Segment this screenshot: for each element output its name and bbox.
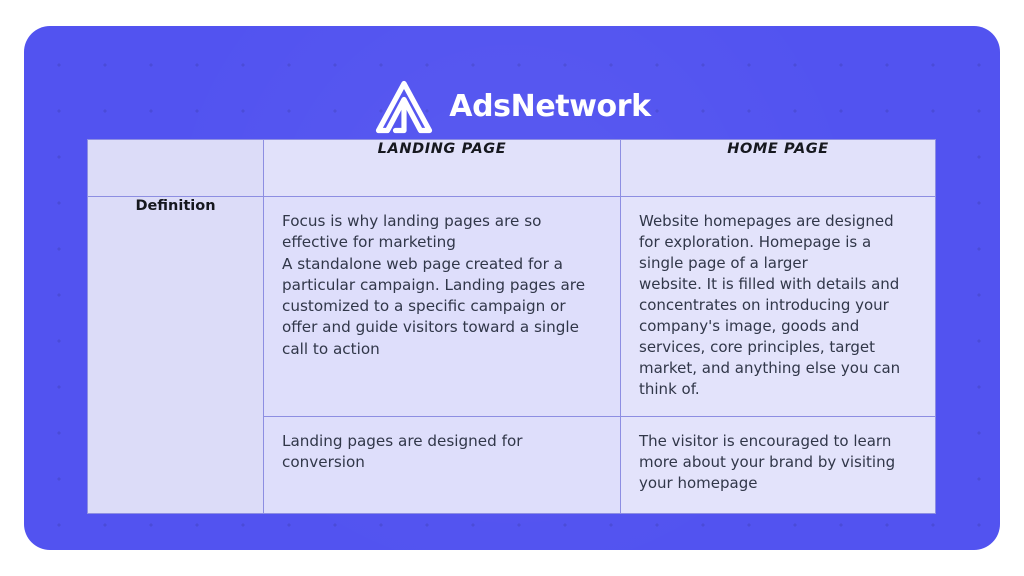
content-card: AdsNetwork LANDING PAGE HOME PAGE [24,26,1000,550]
adsnetwork-a-mark-icon [373,78,435,136]
comparison-table: LANDING PAGE HOME PAGE Definition Focus [87,139,936,514]
row-label-definition-text: Definition [135,198,215,214]
table-row: Definition Focus is why landing pages ar… [88,197,936,417]
slide-canvas: AdsNetwork LANDING PAGE HOME PAGE [0,0,1024,576]
cell-landing-page-definition-text: Focus is why landing pages are so effect… [282,211,602,360]
cell-home-page-definition: Website homepages are designed for explo… [621,197,936,417]
cell-landing-page-conversion-text: Landing pages are designed for conversio… [282,431,602,474]
table-header-landing-page: LANDING PAGE [264,140,621,197]
row-label-definition: Definition [88,197,264,514]
cell-home-page-visitor: The visitor is encouraged to learn more … [621,417,936,514]
cell-landing-page-conversion: Landing pages are designed for conversio… [264,417,621,514]
brand-header: AdsNetwork [24,78,1000,136]
cell-home-page-definition-text: Website homepages are designed for explo… [639,211,917,400]
comparison-table-wrapper: LANDING PAGE HOME PAGE Definition Focus [87,139,935,514]
table-header-row: LANDING PAGE HOME PAGE [88,140,936,197]
table-header-landing-page-label: LANDING PAGE [378,141,507,157]
cell-home-page-visitor-text: The visitor is encouraged to learn more … [639,431,917,494]
table-header-home-page-label: HOME PAGE [727,141,829,157]
brand-name: AdsNetwork [449,92,650,122]
table-header-home-page: HOME PAGE [621,140,936,197]
cell-landing-page-definition: Focus is why landing pages are so effect… [264,197,621,417]
table-header-corner-cell [88,140,264,197]
